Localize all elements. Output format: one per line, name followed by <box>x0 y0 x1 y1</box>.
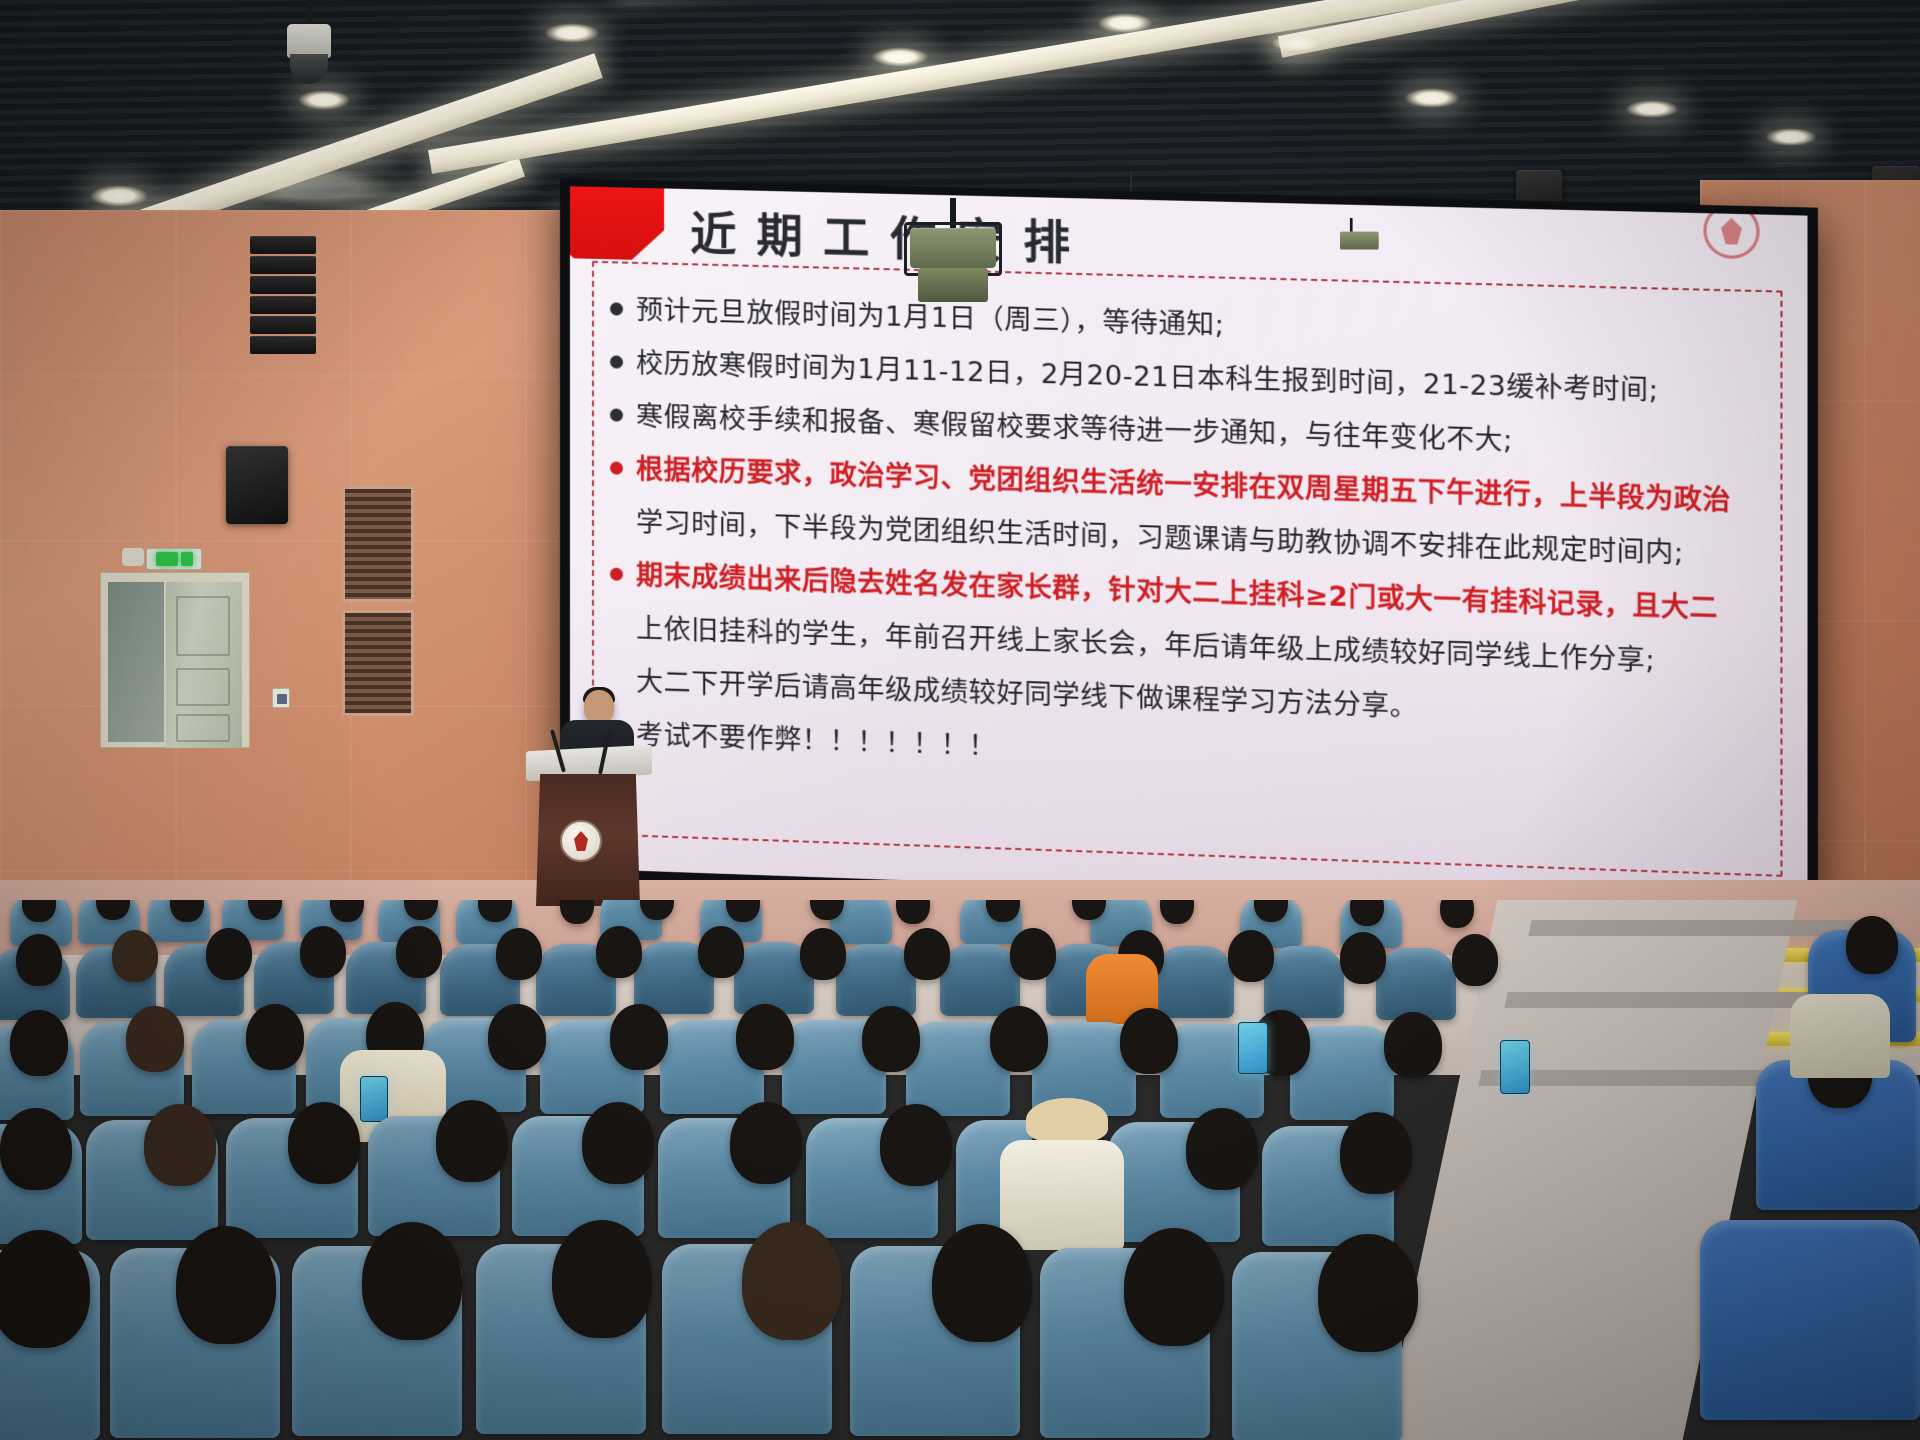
recessed-spotlight <box>1405 88 1459 108</box>
dome-camera-icon <box>287 0 331 90</box>
university-crest-icon <box>560 820 602 862</box>
audience-head <box>1440 900 1474 928</box>
smartphone-screen[interactable] <box>1500 1040 1530 1094</box>
bullet-dot-icon <box>610 355 623 368</box>
auditorium-seat[interactable] <box>1154 946 1234 1018</box>
audience-head <box>1340 1112 1412 1194</box>
audience-head <box>0 1230 90 1348</box>
audience-head <box>246 1004 304 1070</box>
audience-jacket <box>1000 1140 1124 1250</box>
audience-jacket <box>1790 994 1890 1078</box>
audience-head <box>436 1100 508 1182</box>
projection-screen-bezel: 近期工作安排 预计元旦放假时间为1月1日（周三），等待通知; 校历放寒假时间为1… <box>560 178 1818 923</box>
door-panel <box>176 596 230 656</box>
audience-head <box>16 934 62 986</box>
wall-speaker <box>226 446 288 524</box>
slide-title: 近期工作安排 <box>690 197 1090 273</box>
audience-head <box>288 1102 360 1184</box>
audience-head <box>1160 900 1194 924</box>
audience-head <box>730 1102 802 1184</box>
presentation-slide: 近期工作安排 预计元旦放假时间为1月1日（周三），等待通知; 校历放寒假时间为1… <box>570 186 1808 912</box>
door-panel <box>176 714 230 742</box>
bullet-dot-icon <box>610 408 623 421</box>
audience-head <box>176 1226 276 1344</box>
exit-sign <box>146 548 202 570</box>
line-array-speaker <box>250 236 316 356</box>
lectern-podium <box>534 748 644 906</box>
audience-head <box>896 900 930 924</box>
audience-head <box>1228 930 1274 982</box>
door-sidelight-glass <box>108 582 164 742</box>
recessed-spotlight <box>90 185 148 207</box>
ceiling-projector-icon <box>1340 218 1363 245</box>
audience-head <box>1384 1012 1442 1078</box>
bullet-spacer <box>610 621 623 634</box>
air-vent-grille <box>342 486 414 602</box>
lecture-hall-photo: 近期工作安排 预计元旦放假时间为1月1日（周三），等待通知; 校历放寒假时间为1… <box>0 0 1920 1440</box>
bullet-spacer <box>610 674 623 687</box>
smartphone-screen[interactable] <box>360 1076 388 1122</box>
audience-head <box>1124 1228 1224 1346</box>
exit-door[interactable] <box>166 582 242 748</box>
exit-door-frame <box>100 572 250 748</box>
air-vent-grille <box>342 610 414 716</box>
audience-head <box>0 1108 72 1190</box>
university-logo-icon <box>1703 203 1759 259</box>
door-panel <box>176 668 230 706</box>
emergency-lamp <box>122 548 144 566</box>
audience-head <box>206 928 252 980</box>
wall-switch-plate[interactable] <box>272 688 290 708</box>
audience-head <box>742 1222 842 1340</box>
audience-head <box>10 1010 68 1076</box>
audience-head <box>126 1006 184 1072</box>
audience-head <box>990 1006 1048 1072</box>
audience-head <box>1452 934 1498 986</box>
auditorium-seat[interactable] <box>1700 1220 1920 1420</box>
bullet-dot-icon <box>610 461 623 474</box>
audience-head <box>496 928 542 980</box>
bullet-dot-icon <box>610 568 623 581</box>
ceiling-projector-icon <box>910 198 996 308</box>
audience-head <box>596 926 642 978</box>
aisle-step <box>1528 920 1861 936</box>
recessed-spotlight <box>1626 100 1678 118</box>
audience-head <box>904 928 950 980</box>
audience-head <box>932 1224 1032 1342</box>
audience-hat <box>1026 1098 1108 1142</box>
recessed-spotlight <box>1766 128 1816 146</box>
audience-head <box>582 1102 654 1184</box>
recessed-spotlight <box>298 90 350 110</box>
bullet-text: 考试不要作弊！！！！！！！ <box>636 710 996 772</box>
audience-head <box>1846 916 1898 974</box>
auditorium-seat[interactable] <box>1264 946 1344 1018</box>
audience-head <box>112 930 158 982</box>
audience-head <box>552 1220 652 1338</box>
audience-head <box>362 1222 462 1340</box>
auditorium-seat[interactable] <box>940 944 1020 1016</box>
audience-seating-area <box>0 900 1920 1440</box>
audience-head <box>698 926 744 978</box>
audience-head <box>1340 932 1386 984</box>
audience-head <box>1186 1108 1258 1190</box>
audience-head <box>862 1006 920 1072</box>
recessed-spotlight <box>1272 34 1322 52</box>
recessed-spotlight <box>872 47 928 67</box>
audience-head <box>736 1004 794 1070</box>
presenter-head <box>584 690 614 724</box>
audience-head <box>396 926 442 978</box>
exit-sign-glow <box>181 552 193 566</box>
audience-head <box>610 1004 668 1070</box>
audience-head <box>880 1104 952 1186</box>
exit-sign-glow <box>156 552 178 566</box>
slide-bullet-list: 预计元旦放假时间为1月1日（周三），等待通知; 校历放寒假时间为1月11-12日… <box>610 285 1766 801</box>
smartphone-screen[interactable] <box>1238 1022 1268 1074</box>
audience-head <box>560 900 594 924</box>
auditorium-seat[interactable] <box>1376 948 1456 1020</box>
bullet-dot-icon <box>610 302 623 315</box>
audience-head <box>144 1104 216 1186</box>
recessed-spotlight <box>1098 13 1152 33</box>
recessed-spotlight <box>545 23 599 43</box>
audience-head <box>1318 1234 1418 1352</box>
bullet-spacer <box>610 514 623 527</box>
audience-head <box>1010 928 1056 980</box>
audience-head <box>488 1004 546 1070</box>
ceiling-dome-light <box>244 168 394 208</box>
audience-head <box>300 926 346 978</box>
audience-head <box>800 928 846 980</box>
audience-head <box>1120 1008 1178 1074</box>
